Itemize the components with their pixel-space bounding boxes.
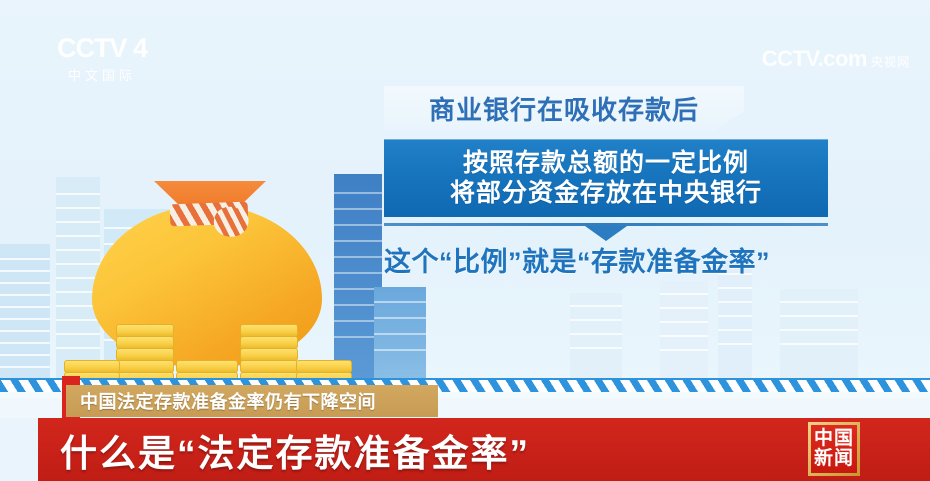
info-band-conclusion-text: 这个“比例”就是“存款准备金率”: [384, 240, 770, 279]
website-watermark-brand: CCTV: [762, 46, 818, 71]
tv-broadcast-frame: 商业银行在吸收存款后 按照存款总额的一定比例 将部分资金存放在中央银行 这个“比…: [0, 0, 930, 481]
coin-stack: [240, 325, 298, 385]
channel-watermark-main: CCTV 4: [57, 33, 147, 64]
channel-watermark-sub: 中文国际: [68, 65, 136, 84]
lower-third-headline-bar: 什么是“法定存款准备金率”: [38, 418, 930, 481]
money-bag-illustration: [62, 155, 362, 385]
skyline-building: [0, 244, 50, 389]
program-logo-line-2: 新闻: [814, 449, 854, 469]
coin-stack: [116, 325, 174, 385]
website-watermark: CCTV.com央视网: [762, 46, 910, 72]
skyline-building: [660, 281, 708, 389]
program-logo-line-1: 中国: [814, 429, 854, 449]
info-box-highlight: 按照存款总额的一定比例 将部分资金存放在中央银行: [384, 139, 828, 217]
info-band-primary: 商业银行在吸收存款后: [384, 86, 744, 130]
info-box-line-2: 将部分资金存放在中央银行: [450, 178, 762, 209]
lower-third-subtitle-bar: 中国法定存款准备金率仍有下降空间: [66, 385, 438, 417]
skyline-building: [374, 287, 426, 389]
website-watermark-cn: 央视网: [871, 55, 910, 69]
skyline-building: [718, 261, 752, 389]
info-band-conclusion: 这个“比例”就是“存款准备金率”: [384, 240, 864, 278]
channel-watermark: CCTV 4 中文国际: [42, 34, 162, 82]
skyline-building: [780, 289, 858, 389]
website-watermark-tld: .com: [818, 46, 867, 71]
program-logo: 中国 新闻: [808, 422, 860, 476]
lower-third-headline-text: 什么是“法定存款准备金率”: [38, 423, 530, 477]
info-band-primary-text: 商业银行在吸收存款后: [429, 90, 699, 127]
headline-left-gap: [0, 418, 40, 481]
lower-third-subtitle-text: 中国法定存款准备金率仍有下降空间: [66, 388, 376, 414]
skyline-building: [570, 293, 622, 389]
info-box-line-1: 按照存款总额的一定比例: [463, 148, 749, 179]
